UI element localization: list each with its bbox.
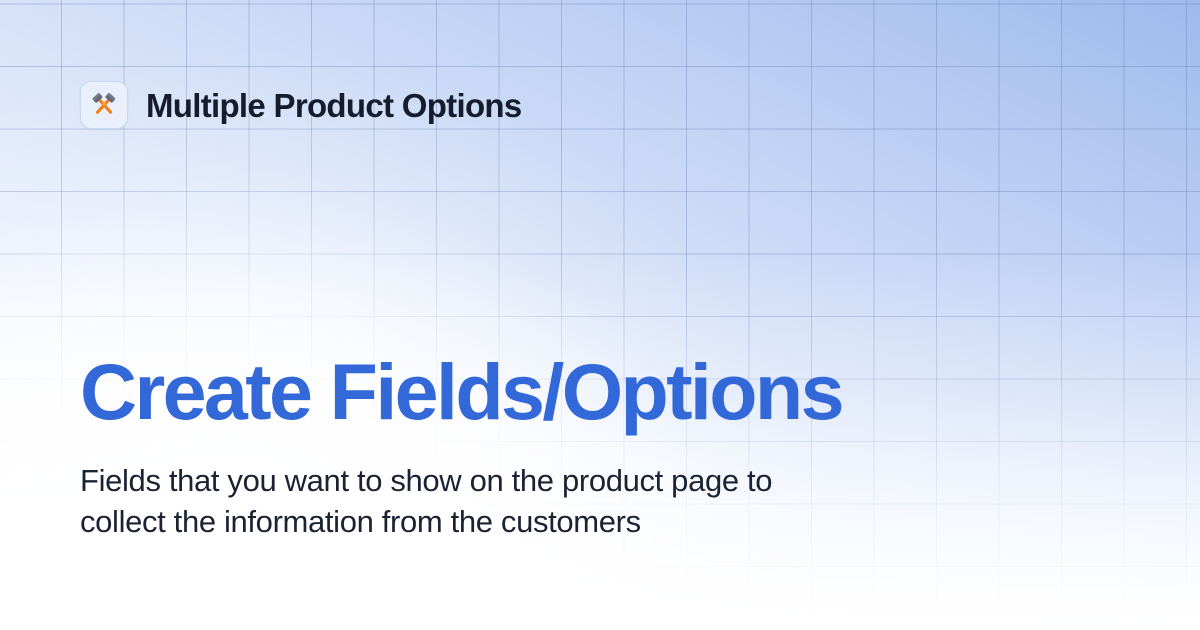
card-content: Multiple Product Options Create Fields/O…: [0, 0, 1200, 630]
page-subtitle: Fields that you want to show on the prod…: [80, 461, 850, 543]
og-card: Multiple Product Options Create Fields/O…: [0, 0, 1200, 630]
brand-row: Multiple Product Options: [80, 81, 522, 129]
page-title: Create Fields/Options: [80, 352, 842, 431]
crossed-hammers-icon: [80, 81, 128, 129]
brand-title: Multiple Product Options: [146, 89, 522, 122]
